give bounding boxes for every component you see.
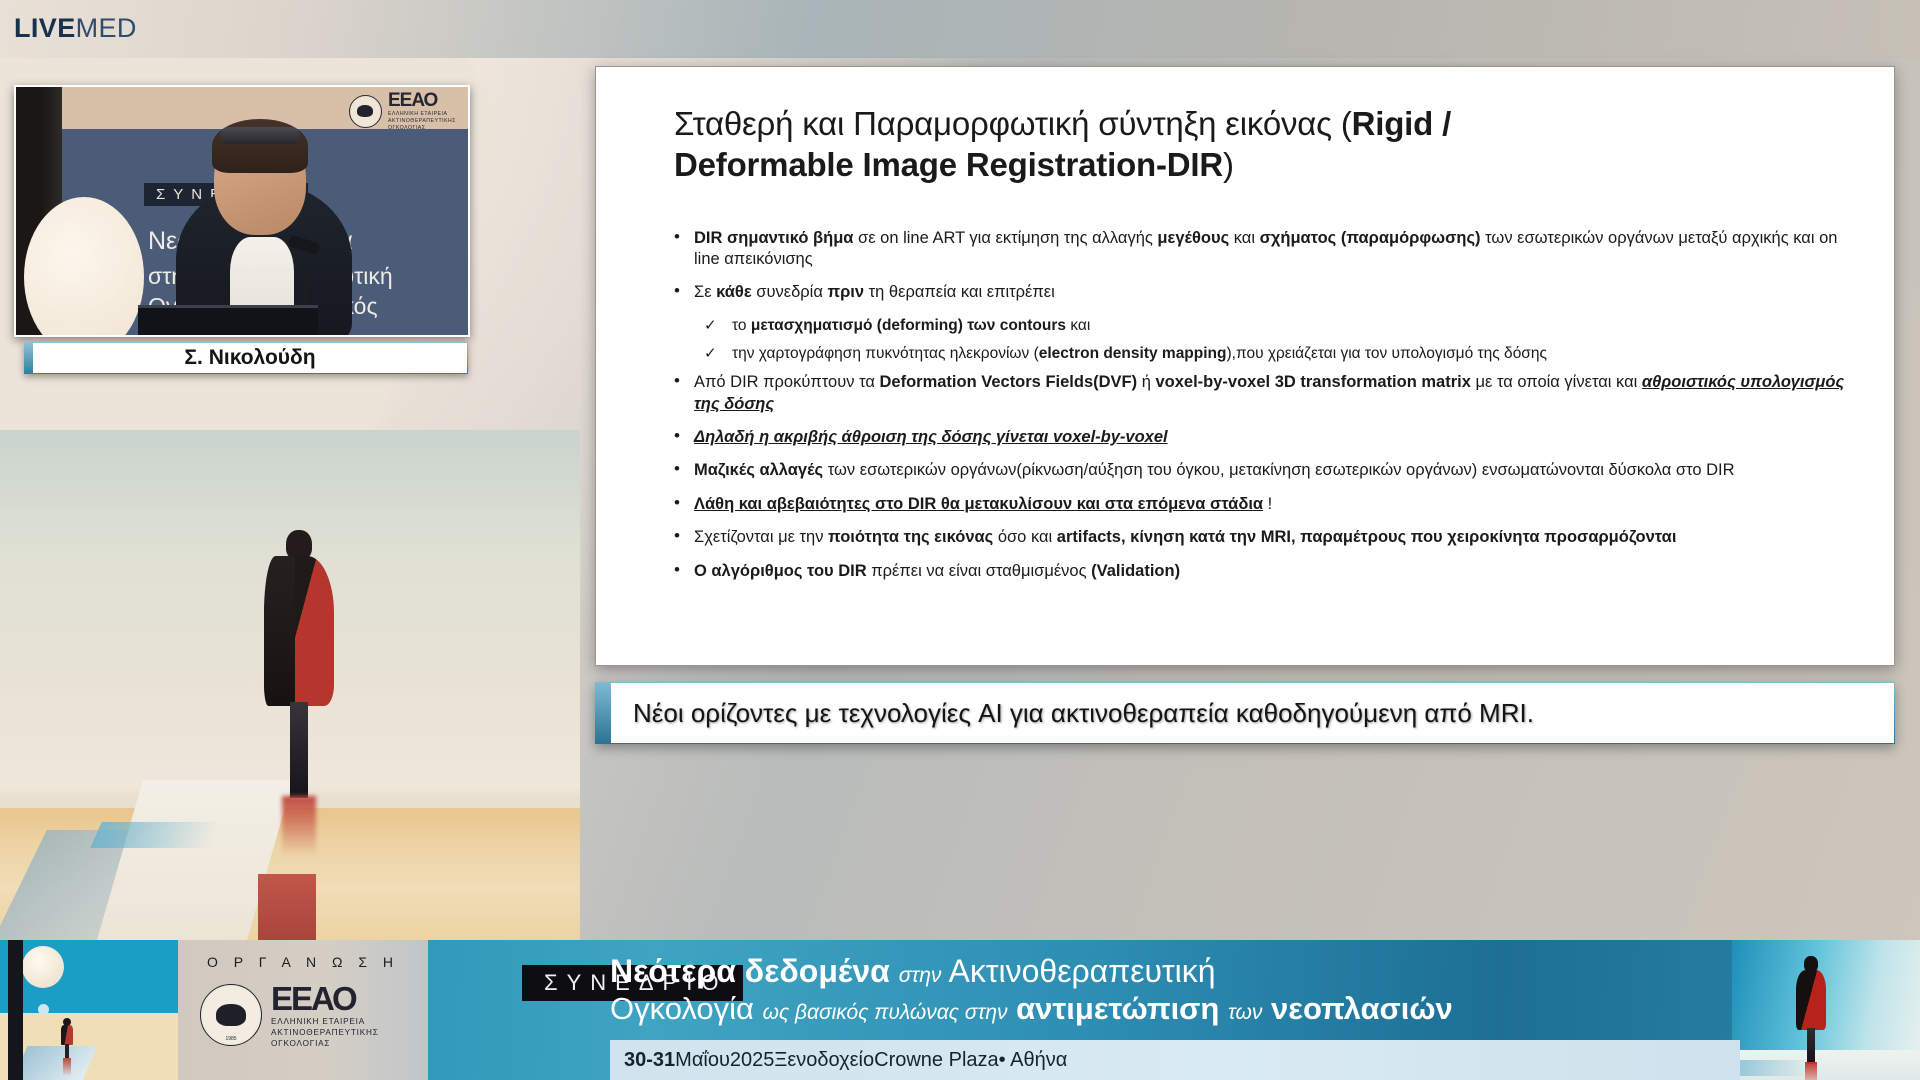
- banner-left-dark-bar: [8, 940, 23, 1080]
- banner-left-figure-reflection: [63, 1058, 71, 1076]
- eeao-sub-2-banner: ΑΚΤΙΝΟΘΕΡΑΠΕΥΤΙΚΗΣ: [271, 1029, 379, 1037]
- text-run: Λάθη και αβεβαιότητες στο DIR θα μετακυλ…: [694, 495, 1263, 513]
- bullet-item: Σε κάθε συνεδρία πριν τη θεραπεία και επ…: [668, 282, 1858, 303]
- slide-title-latin-2: Deformable Image Registration-DIR: [674, 146, 1223, 183]
- brand-live: LIVE: [14, 13, 76, 43]
- eeao-seal-year: 1985: [225, 1036, 236, 1042]
- walking-figure-illustration: [252, 530, 342, 820]
- slide-bullet-list: DIR σημαντικό βήμα σε on line ART για εκ…: [632, 228, 1858, 583]
- bullet-item: DIR σημαντικό βήμα σε on line ART για εκ…: [668, 228, 1858, 271]
- slide-title: Σταθερή και Παραμορφωτική σύντηξη εικόνα…: [632, 91, 1858, 186]
- conf-l1-c: Ακτινοθεραπευτική: [949, 953, 1216, 989]
- speaker-video-player[interactable]: ΣΥΝΕΔΡΙΟ Νεότερα δεδομένα στην Ακτινοθερ…: [14, 85, 470, 337]
- eeao-sub-3-banner: ΟΓΚΟΛΟΓΙΑΣ: [271, 1040, 379, 1048]
- conf-l2-b: ως βασικός πυλώνας στην: [763, 1001, 1008, 1024]
- speaker-name-label: Σ. Νικολούδη: [184, 346, 315, 370]
- text-run: σε on line ART για εκτίμηση της αλλαγής: [853, 229, 1157, 247]
- organizer-label: Ο Ρ Γ Α Ν Ω Σ Η: [178, 954, 428, 970]
- text-run: μετασχηματισμό (deforming) των contours: [751, 317, 1066, 334]
- text-run: τη θεραπεία και επιτρέπει: [864, 283, 1055, 301]
- banner-left-figure-legs: [65, 1044, 69, 1058]
- laptop-on-podium: [138, 305, 318, 337]
- conf-l2-d: των: [1228, 1001, 1262, 1024]
- text-run: μεγέθους: [1157, 229, 1229, 247]
- eeao-wordmark-banner: ΕΕΑΟ ΕΛΛΗΝΙΚΗ ΕΤΑΙΡΕΙΑ ΑΚΤΙΝΟΘΕΡΑΠΕΥΤΙΚΗ…: [271, 982, 379, 1049]
- banner-right-artwork: [1732, 940, 1920, 1080]
- banner-right-walking-figure: [1794, 956, 1828, 1066]
- figure-reflection: [282, 796, 316, 856]
- text-run: voxel-by-voxel 3D transformation matrix: [1155, 373, 1470, 391]
- organizer-logo: 1985 ΕΕΑΟ ΕΛΛΗΝΙΚΗ ΕΤΑΙΡΕΙΑ ΑΚΤΙΝΟΘΕΡΑΠΕ…: [200, 982, 379, 1049]
- figure-coat: [264, 556, 334, 706]
- bullet-item: Σχετίζονται με την ποιότητα της εικόνας …: [668, 527, 1858, 548]
- bullet-sub-item: το μετασχηματισμό (deforming) των contou…: [702, 316, 1858, 336]
- banner-right-figure-legs: [1807, 1028, 1815, 1064]
- conference-title-line-2: Ογκολογία ως βασικός πυλώνας στην αντιμε…: [610, 993, 1453, 1025]
- text-run: και: [1229, 229, 1259, 247]
- art-red-block: [258, 874, 316, 940]
- text-run: συνεδρία: [752, 283, 828, 301]
- eeao-wordmark-video: ΕΕΑΟ ΕΛΛΗΝΙΚΗ ΕΤΑΙΡΕΙΑ ΑΚΤΙΝΟΘΕΡΑΠΕΥΤΙΚΗ…: [388, 91, 456, 132]
- eeao-acronym: ΕΕΑΟ: [388, 91, 456, 110]
- conf-l2-c: αντιμετώπιση: [1016, 991, 1219, 1026]
- sunglasses-icon: [220, 127, 300, 144]
- text-run: των εσωτερικών οργάνων(ρίκνωση/αύξηση το…: [823, 461, 1734, 479]
- bullet-item: Από DIR προκύπτουν τα Deformation Vector…: [668, 372, 1858, 415]
- presentation-slide[interactable]: Σταθερή και Παραμορφωτική σύντηξη εικόνα…: [595, 66, 1895, 666]
- bullet-sub-item: την χαρτογράφηση πυκνότητας ηλεκρονίων (…: [702, 344, 1858, 364]
- text-run: (Validation): [1091, 562, 1180, 580]
- conf-l1-a: Νεότερα δεδομένα: [610, 953, 890, 989]
- text-run: artifacts, κίνηση κατά την MRI, παραμέτρ…: [1057, 528, 1677, 546]
- speaker-name-plate: Σ. Νικολούδη: [24, 342, 468, 374]
- callout-text: Νέοι ορίζοντες με τεχνολογίες AI για ακτ…: [633, 698, 1534, 729]
- text-run: και: [1066, 317, 1090, 334]
- text-run: την χαρτογράφηση πυκνότητας ηλεκρονίων (: [732, 345, 1039, 362]
- bullet-item: Λάθη και αβεβαιότητες στο DIR θα μετακυλ…: [668, 494, 1858, 515]
- slide-title-latin-1: Rigid /: [1352, 105, 1451, 142]
- eeao-logo-video: ΕΕΑΟ ΕΛΛΗΝΙΚΗ ΕΤΑΙΡΕΙΑ ΑΚΤΙΝΟΘΕΡΑΠΕΥΤΙΚΗ…: [349, 91, 456, 132]
- eeao-sub-3: ΟΓΚΟΛΟΓΙΑΣ: [388, 126, 456, 131]
- text-run: Σε: [694, 283, 716, 301]
- text-run: Σχετίζονται με την: [694, 528, 828, 546]
- banner-left-walking-figure: [60, 1018, 74, 1060]
- conf-l2-a: Ογκολογία: [610, 991, 754, 1026]
- text-run: Ο αλγόριθμος του DIR: [694, 562, 867, 580]
- livemed-logo[interactable]: LIVEMED: [14, 13, 137, 44]
- banner-left-figure-body: [61, 1025, 73, 1045]
- conf-l1-b: στην: [899, 964, 942, 987]
- top-bar: LIVEMED: [0, 0, 1920, 58]
- eeao-sub-2: ΑΚΤΙΝΟΘΕΡΑΠΕΥΤΙΚΗΣ: [388, 119, 456, 124]
- text-run: ή: [1137, 373, 1155, 391]
- banner-left-artwork: [0, 940, 178, 1080]
- conference-dates: 30-31: [624, 1049, 675, 1072]
- slide-footer-callout[interactable]: Νέοι ορίζοντες με τεχνολογίες AI για ακτ…: [595, 682, 1895, 744]
- conference-date-bar: 30-31 Μαΐου 2025 Ξενοδοχείο Crowne Plaza…: [610, 1040, 1740, 1080]
- venue-label: Ξενοδοχείο: [774, 1049, 874, 1072]
- conference-city: • Αθήνα: [999, 1049, 1068, 1072]
- eeao-sub-1: ΕΛΛΗΝΙΚΗ ΕΤΑΙΡΕΙΑ: [388, 112, 456, 117]
- banner-small-moon-graphic: [38, 1004, 49, 1015]
- text-run: όσο και: [993, 528, 1057, 546]
- text-run: σχήματος (παραμόρφωσης): [1260, 229, 1481, 247]
- banner-moon-graphic: [22, 946, 64, 988]
- conference-title-block: Νεότερα δεδομένα στην Ακτινοθεραπευτική …: [610, 955, 1453, 1024]
- banner-left-path: [12, 1046, 97, 1080]
- text-run: με τα οποία γίνεται και: [1471, 373, 1642, 391]
- decorative-art-panel: [0, 430, 580, 940]
- text-run: !: [1263, 495, 1272, 513]
- bullet-item: Δηλαδή η ακριβής άθροιση της δόσης γίνετ…: [668, 427, 1858, 448]
- slide-title-close: ): [1223, 146, 1234, 183]
- text-run: DIR σημαντικό βήμα: [694, 229, 853, 247]
- eeao-seal-icon: [349, 95, 382, 128]
- venue-name: Crowne Plaza: [874, 1049, 999, 1072]
- banner-right-figure-body: [1796, 970, 1826, 1030]
- text-run: Δηλαδή η ακριβής άθροιση της δόσης γίνετ…: [694, 428, 1168, 446]
- text-run: Deformation Vectors Fields(DVF): [879, 373, 1137, 391]
- text-run: πριν: [827, 283, 864, 301]
- conference-year: 2025: [730, 1049, 775, 1072]
- brand-med: MED: [76, 13, 137, 43]
- eeao-acronym-banner: ΕΕΑΟ: [271, 982, 379, 1015]
- banner-right-figure-reflection: [1805, 1062, 1817, 1080]
- eeao-sub-1-banner: ΕΛΛΗΝΙΚΗ ΕΤΑΙΡΕΙΑ: [271, 1018, 379, 1026]
- figure-legs: [290, 702, 308, 798]
- conf-l2-e: νεοπλασιών: [1271, 991, 1453, 1026]
- slide-title-greek: Σταθερή και Παραμορφωτική σύντηξη εικόνα…: [674, 105, 1352, 142]
- eeao-seal-icon-banner: 1985: [200, 984, 262, 1046]
- art-blue-streak: [90, 822, 222, 848]
- text-run: electron density mapping: [1039, 345, 1227, 362]
- text-run: κάθε: [716, 283, 752, 301]
- conference-title-line-1: Νεότερα δεδομένα στην Ακτινοθεραπευτική: [610, 955, 1453, 988]
- text-run: Μαζικές αλλαγές: [694, 461, 823, 479]
- text-run: το: [732, 317, 751, 334]
- text-run: Από DIR προκύπτουν τα: [694, 373, 879, 391]
- text-run: ),που χρειάζεται για τον υπολογισμό της …: [1227, 345, 1547, 362]
- bullet-item: Μαζικές αλλαγές των εσωτερικών οργάνων(ρ…: [668, 460, 1858, 481]
- text-run: πρέπει να είναι σταθμισμένος: [867, 562, 1092, 580]
- text-run: ποιότητα της εικόνας: [828, 528, 993, 546]
- conference-month: Μαΐου: [675, 1049, 730, 1072]
- bullet-item: Ο αλγόριθμος του DIR πρέπει να είναι στα…: [668, 561, 1858, 582]
